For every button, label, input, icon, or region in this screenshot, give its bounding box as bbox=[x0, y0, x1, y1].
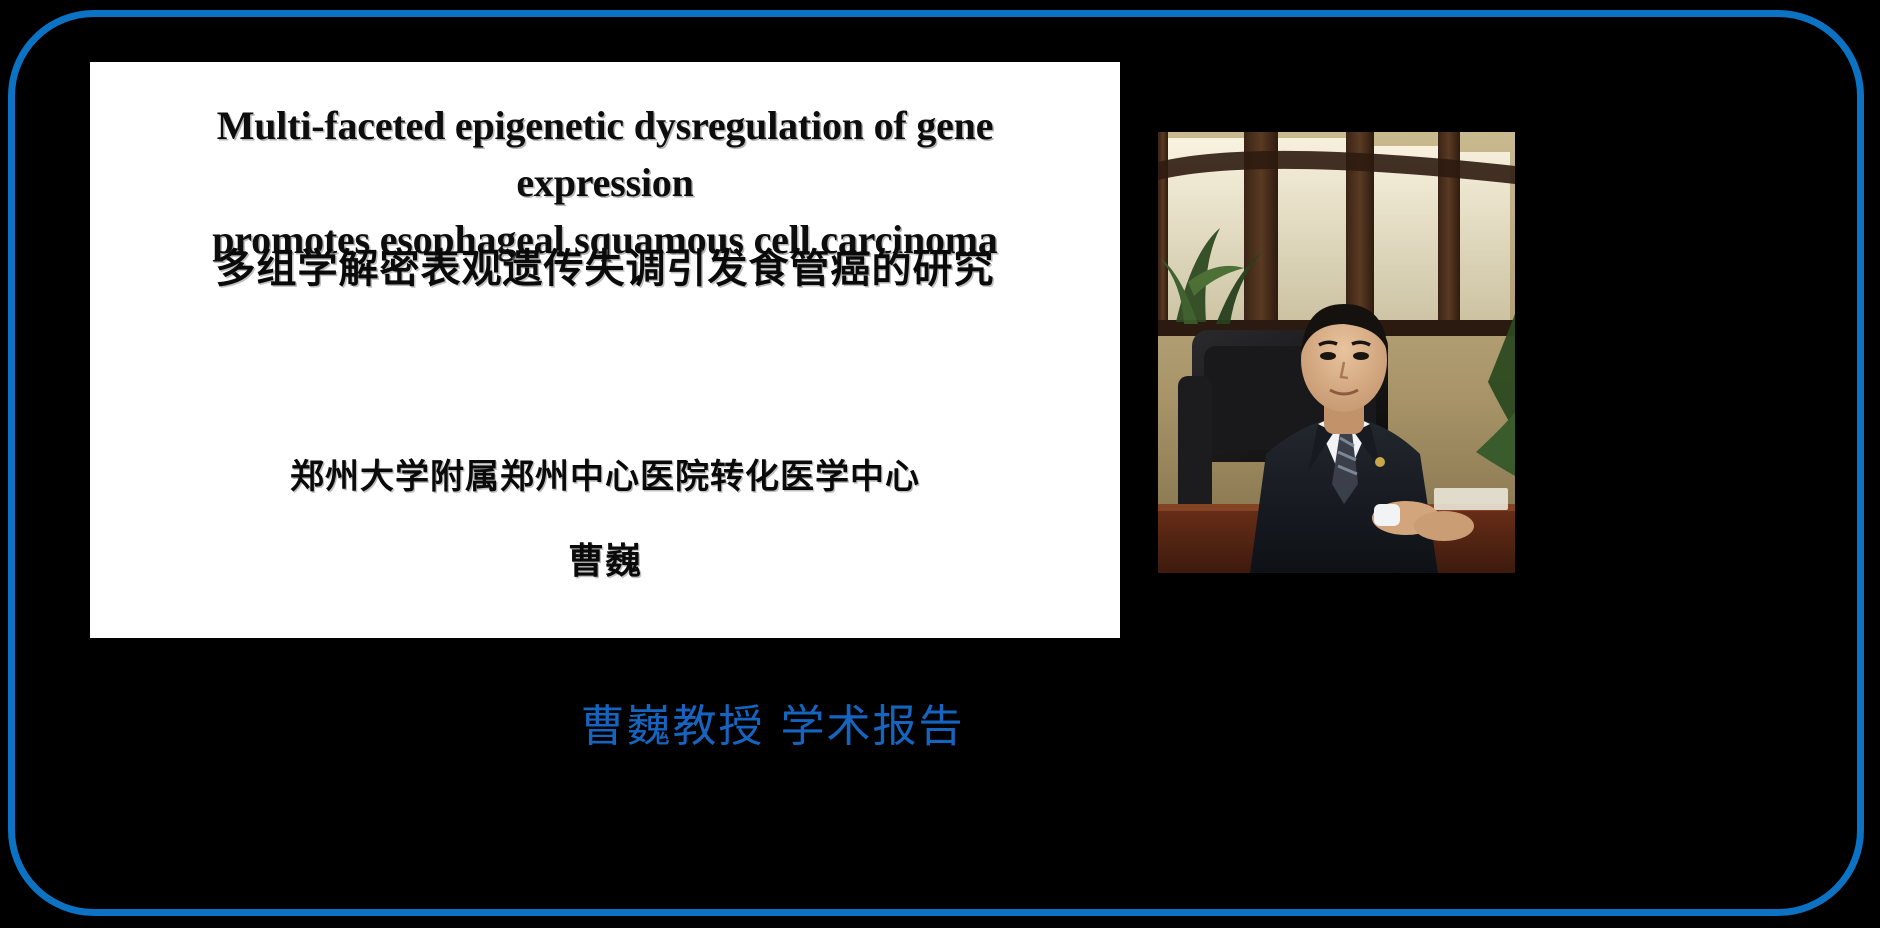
speaker-photo-image bbox=[1158, 132, 1515, 573]
event-caption: 曹巍教授 学术报告 bbox=[0, 690, 1545, 754]
slide-title-english-line-1: Multi-faceted epigenetic dysregulation o… bbox=[126, 98, 1084, 212]
slide-panel: Multi-faceted epigenetic dysregulation o… bbox=[90, 62, 1120, 638]
slide-title-chinese: 多组学解密表观遗传失调引发食管癌的研究 bbox=[126, 245, 1084, 293]
slide-title-english: Multi-faceted epigenetic dysregulation o… bbox=[126, 98, 1084, 268]
slide-affiliation: 郑州大学附属郑州中心医院转化医学中心 bbox=[126, 457, 1084, 498]
speaker-photo bbox=[1158, 132, 1515, 573]
slide-presenter-name: 曹巍 bbox=[126, 540, 1084, 583]
poster-stage: Multi-faceted epigenetic dysregulation o… bbox=[0, 0, 1880, 928]
